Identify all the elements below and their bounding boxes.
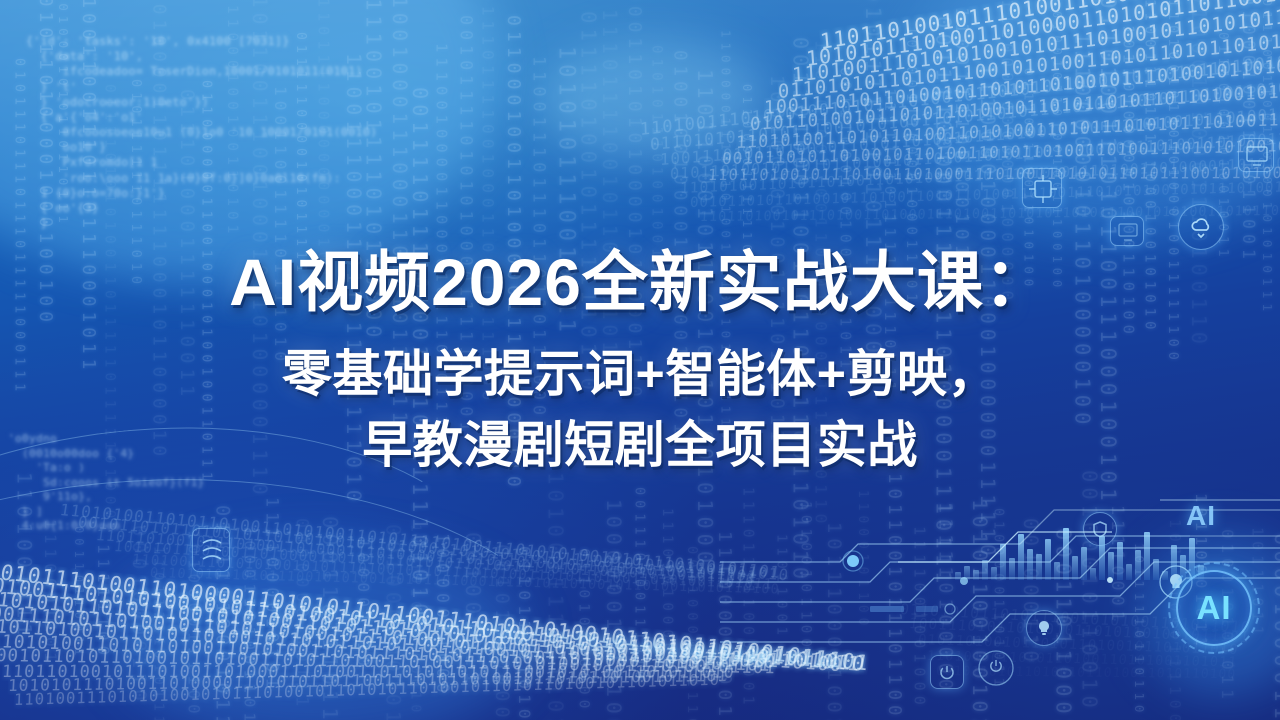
binary-wave-row: 0110101011010111001010100110101101000101… [149,565,780,597]
binary-wave-row: 0010110101101001011010011010110100110100… [0,646,777,678]
poster-title: AI视频2026全新实战大课： [0,246,1280,320]
binary-column: 001100000111101 [684,546,700,720]
headline-block: AI视频2026全新实战大课： 零基础学提示词+智能体+剪映， 早教漫剧短剧全项… [0,246,1280,478]
binary-column: 10000011000 [433,533,452,698]
ai-badge-label: AI [1197,589,1232,627]
binary-column: 011010100000 [576,548,593,713]
binary-column: 11111100 [94,544,113,660]
binary-column: 1111000010101 [262,497,282,693]
binary-column: 0000000110111 [292,518,311,711]
binary-column: 001001011 [461,532,485,689]
top-sheen-overlay [0,0,1280,230]
binary-wave-row: 1101010011010110100110101001101011101010… [0,631,772,676]
binary-column: 001010100000001 [491,544,512,720]
binary-column: 111101001100010 [408,524,423,717]
poster-subtitle-line-1: 零基础学提示词+智能体+剪映， [0,342,1280,407]
binary-column: 1110001101 [41,519,60,666]
binary-wave-row: 1001110101101001011010110100101110100101… [0,601,844,676]
ai-label-small: AI [1186,500,1216,532]
binary-wave-row: 1101101001011101001101000111010011010101… [1,661,735,682]
binary-column: 110111110101110 [150,546,165,720]
poster-canvas: 0101110111011101111100011100101101000010… [0,0,1280,720]
binary-column: 100001110 [354,538,373,671]
glow-bottom-left [110,540,530,720]
binary-wave-row: 1010101110100110100001101010110110011101… [7,666,728,695]
ai-badge: AI [1168,562,1260,654]
binary-column: 101001111001101 [544,472,568,720]
binary-column: 100011010011011 [240,526,258,720]
binary-column: 000110111011 [318,516,342,720]
binary-column: 00010000110 [128,525,150,706]
binary-column: 001000000101 [381,524,404,720]
binary-column: 0110111010101100 [515,546,534,720]
binary-wave-row: 0101101001011010110100101101011010110110… [0,616,777,673]
binary-column: 001110000111010 [631,487,647,684]
binary-column: 00110110011 [72,526,86,660]
binary-column: 111010100000 [659,508,675,670]
binary-column: 10000001110100011 [602,499,625,720]
layers-icon [192,528,230,572]
poster-subtitle-line-2: 早教漫剧短剧全项目实战 [0,413,1280,478]
binary-wave-row: 1101001110101010010101110100101101010110… [14,671,721,709]
